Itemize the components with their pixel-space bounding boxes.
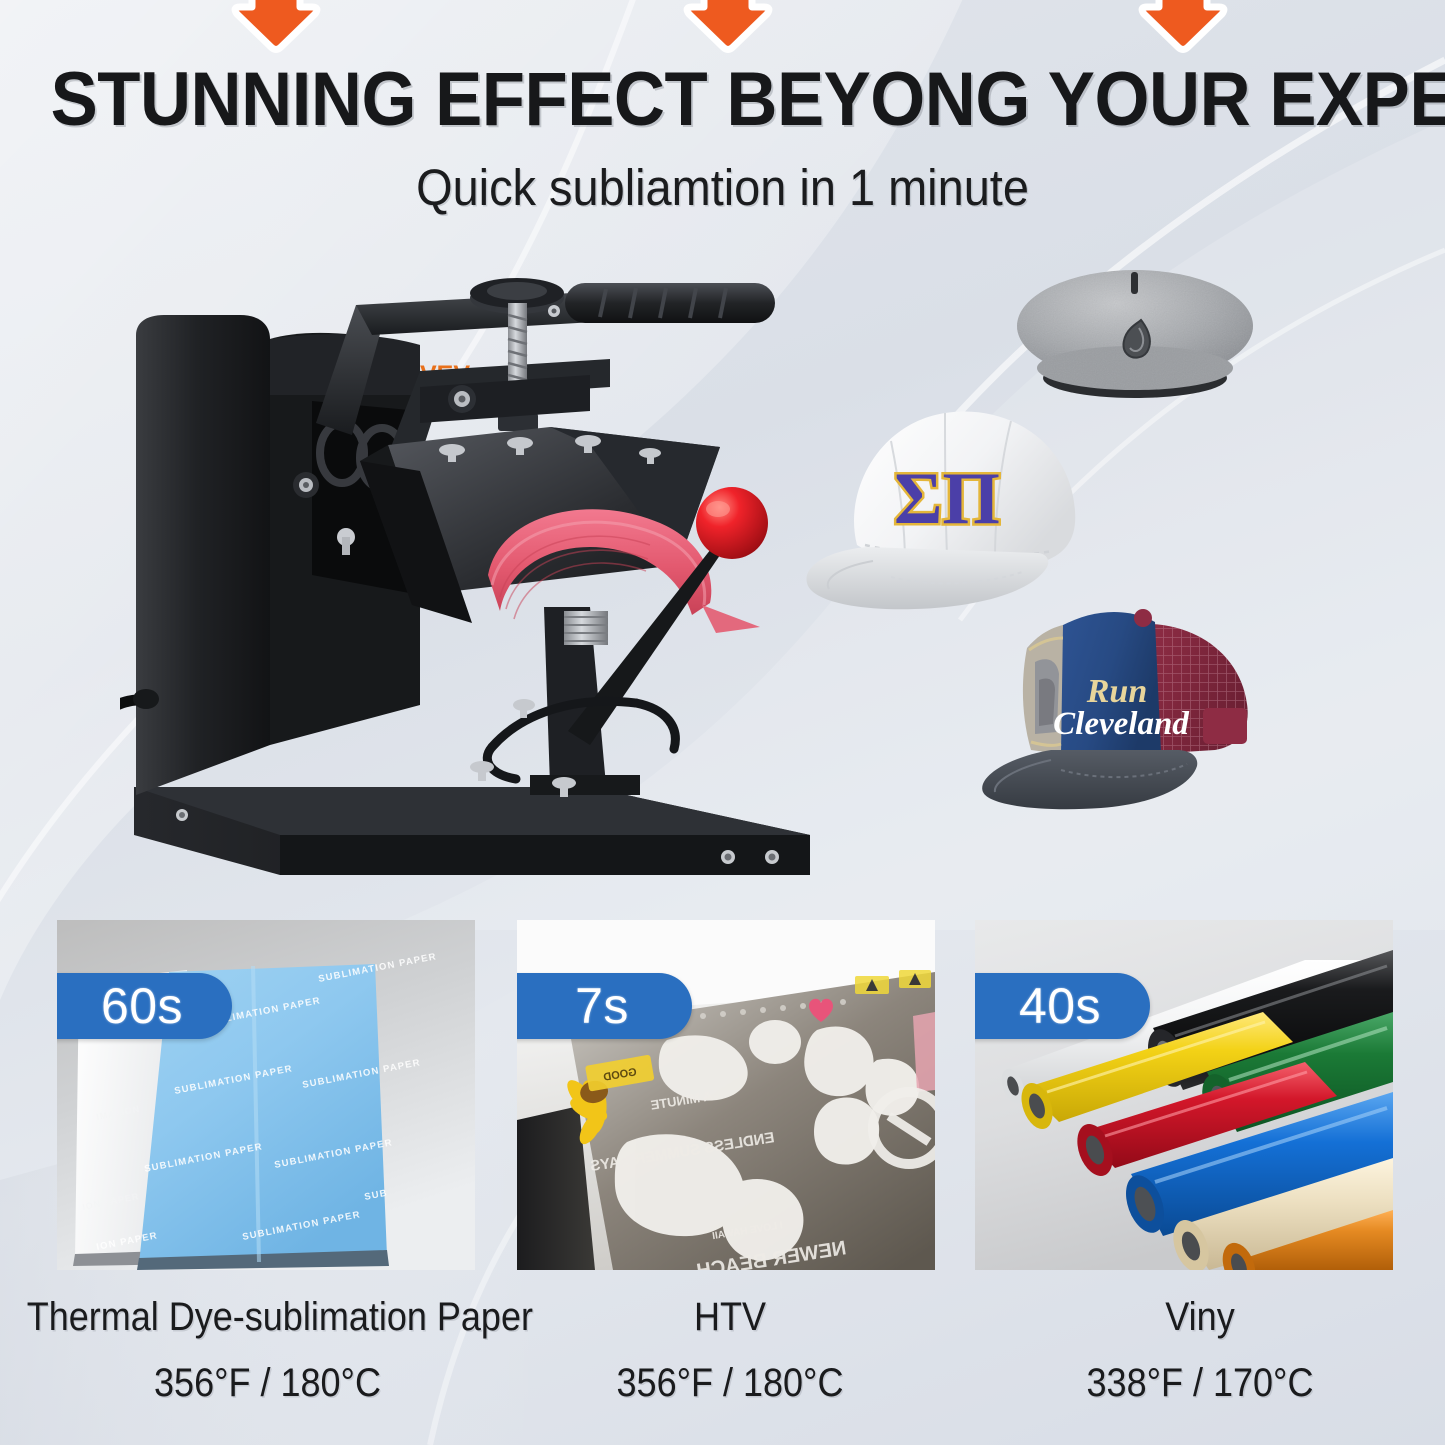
down-arrow-icon-vinyl: [1135, 0, 1231, 55]
time-badge-label: 7s: [575, 981, 629, 1031]
time-badge-label: 40s: [1019, 981, 1101, 1031]
material-caption-title-vinyl: Viny: [984, 1295, 1416, 1340]
material-caption-temp-htv: 356°F / 180°C: [514, 1361, 946, 1406]
time-badge-vinyl: 40s: [975, 973, 1150, 1039]
time-badge-label: 60s: [101, 981, 183, 1031]
down-arrow-icon-sublimation: [228, 0, 324, 55]
cap-greek-letters: ΣΠ: [894, 458, 1000, 540]
material-caption-title-htv: HTV: [514, 1295, 946, 1340]
mesh-patch: [1203, 708, 1247, 744]
material-panel-vinyl: 40s: [975, 920, 1393, 1270]
run-cleveland-trucker-cap: Run Cleveland: [965, 592, 1255, 814]
red-ball-lever-knob: [696, 487, 768, 559]
material-panel-htv: ENDLESS SUMMER DAYS A MINUTE NEWER BEACH…: [517, 920, 935, 1270]
time-badge-htv: 7s: [517, 973, 692, 1039]
trucker-logo-line1: Run: [1086, 673, 1148, 710]
time-badge-sublimation: 60s: [57, 973, 232, 1039]
down-arrow-icon-htv: [680, 0, 776, 55]
cap-button: [1134, 609, 1152, 627]
material-caption-temp-vinyl: 338°F / 170°C: [984, 1361, 1416, 1406]
material-panel-sublimation-paper: SUBLIMATION PAPER SUBLIMATION PAPER SUBL…: [57, 920, 475, 1270]
handle-grip: [548, 283, 775, 323]
page-subheadline: Quick subliamtion in 1 minute: [58, 158, 1387, 217]
material-caption-title-sublimation: Thermal Dye-sublimation Paper: [27, 1295, 509, 1340]
material-caption-temp-sublimation: 356°F / 180°C: [27, 1361, 509, 1406]
trucker-logo-line2: Cleveland: [1053, 706, 1189, 742]
cap-heat-press-machine: VEV: [120, 275, 820, 875]
gray-wool-beret: [1010, 258, 1260, 418]
product-marketing-image: STUNNING EFFECT BEYONG YOUR EXPECTION Qu…: [0, 0, 1445, 1445]
page-headline: STUNNING EFFECT BEYONG YOUR EXPECTION: [51, 56, 1395, 143]
white-baseball-cap: ΣΠ: [795, 395, 1085, 620]
machine-base: [134, 787, 810, 875]
beret-stem: [1131, 272, 1138, 294]
